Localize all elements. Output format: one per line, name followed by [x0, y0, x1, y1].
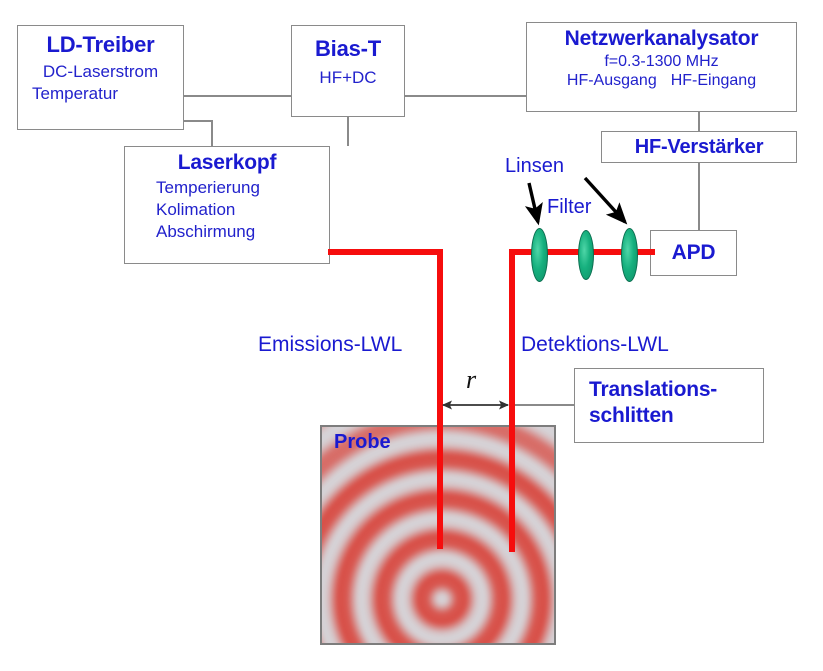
distance-symbol-r: r	[466, 365, 476, 395]
diagram-canvas: Probe LD-Treiber DC-Laserstrom Temperatu…	[0, 0, 823, 671]
arrow-linsen-to-lens-2	[585, 178, 625, 222]
optics-arrows	[0, 0, 823, 671]
arrow-linsen-to-lens-1	[529, 183, 538, 222]
